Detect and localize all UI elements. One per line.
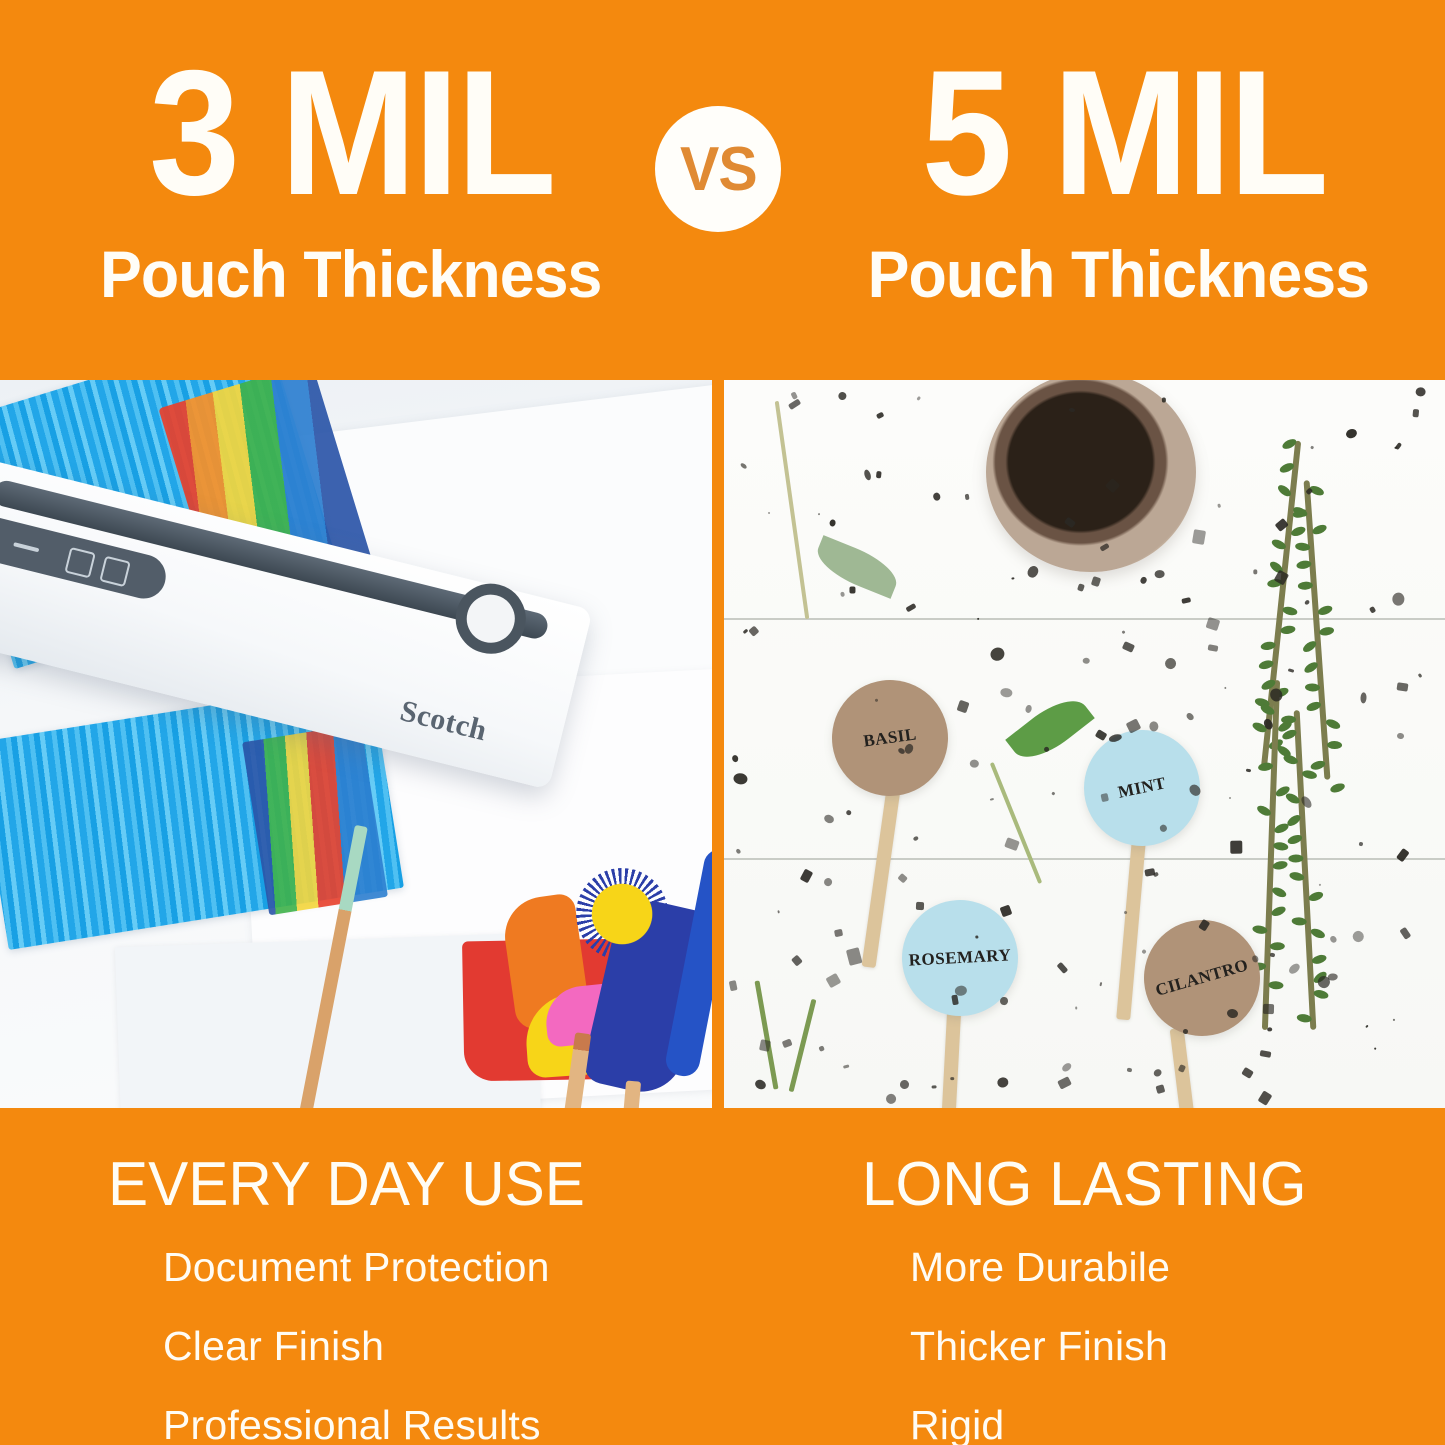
thyme-leaf — [1288, 854, 1303, 862]
terracotta-pot — [986, 380, 1196, 572]
soil-speck — [1192, 530, 1206, 545]
marker-label: CILANTRO — [1154, 957, 1250, 999]
soil-speck — [965, 494, 970, 501]
list-item: Rigid — [910, 1405, 1422, 1445]
photo-band: Scotch SUPER STAR ↑ — [0, 380, 1445, 1108]
thyme-leaf — [1281, 715, 1296, 724]
soil-speck — [1267, 1027, 1272, 1031]
list-item: Professional Results — [163, 1405, 708, 1445]
vs-badge: VS — [655, 106, 781, 232]
marker-label: MINT — [1117, 775, 1168, 801]
footer-column-left: EVERY DAY USE Document Protection Clear … — [108, 1108, 708, 1445]
soil-speck — [850, 586, 856, 593]
herb-stem — [754, 980, 778, 1089]
footer-left-heading: EVERY DAY USE — [108, 1108, 690, 1217]
soil-speck — [1208, 644, 1218, 651]
soil-speck — [950, 1077, 954, 1080]
soil-speck — [1155, 570, 1165, 578]
power-icon — [0, 524, 3, 556]
header-right-subtitle: Pouch Thickness — [763, 240, 1445, 308]
minus-icon — [13, 542, 39, 552]
thyme-leaf — [1298, 581, 1314, 590]
soil-speck — [916, 902, 924, 910]
header-left-mil-value: 3 MIL — [29, 44, 706, 222]
soil-speck — [1148, 721, 1158, 732]
soil-speck — [1230, 841, 1242, 854]
shiplap-seam — [724, 618, 1445, 620]
thyme-leaf — [1327, 741, 1342, 749]
soil-speck — [1011, 576, 1015, 579]
list-item: Clear Finish — [163, 1326, 708, 1367]
list-item: Document Protection — [163, 1247, 708, 1288]
soil-speck — [932, 492, 941, 501]
thickness-button-icon — [99, 556, 131, 588]
photo-laminator-scene: Scotch SUPER STAR ↑ — [0, 380, 712, 1108]
thickness-button-icon — [64, 547, 96, 579]
marker-label: ROSEMARY — [908, 947, 1011, 968]
footer-left-benefit-list: Document Protection Clear Finish Profess… — [108, 1217, 708, 1445]
soil-speck — [974, 936, 978, 939]
header-left-subtitle: Pouch Thickness — [18, 240, 712, 308]
soil-speck — [932, 1085, 937, 1089]
shiplap-seam — [724, 858, 1445, 860]
soil-speck — [1263, 1004, 1274, 1014]
header-column-left: 3 MIL Pouch Thickness — [0, 0, 700, 380]
product-comparison-poster: 3 MIL Pouch Thickness VS 5 MIL Pouch Thi… — [0, 0, 1445, 1445]
thyme-leaf — [1260, 641, 1276, 651]
footer-right-benefit-list: More Durabile Thicker Finish Rigid — [862, 1217, 1422, 1445]
soil-speck — [1413, 409, 1420, 417]
soil-speck — [977, 618, 979, 620]
header-right-mil-value: 5 MIL — [774, 44, 1445, 222]
soil-speck — [875, 471, 881, 479]
photo-herb-markers-scene: BASIL MINT ROSEMARY CILANTRO — [724, 380, 1445, 1108]
soil-speck — [1075, 1006, 1077, 1009]
soil-speck — [1396, 682, 1408, 691]
footer-band: EVERY DAY USE Document Protection Clear … — [0, 1108, 1445, 1445]
soil-speck — [1183, 1028, 1188, 1033]
herb-stem — [789, 999, 817, 1092]
vs-badge-label: VS — [680, 134, 757, 205]
list-item: Thicker Finish — [910, 1326, 1422, 1367]
laminator-brand-label: Scotch — [397, 694, 491, 748]
list-item: More Durabile — [910, 1247, 1422, 1288]
header-column-right: 5 MIL Pouch Thickness — [745, 0, 1445, 380]
footer-column-right: LONG LASTING More Durabile Thicker Finis… — [862, 1108, 1422, 1445]
header-band: 3 MIL Pouch Thickness VS 5 MIL Pouch Thi… — [0, 0, 1445, 380]
footer-right-heading: LONG LASTING — [862, 1108, 1405, 1217]
thyme-leaf — [1258, 762, 1274, 772]
